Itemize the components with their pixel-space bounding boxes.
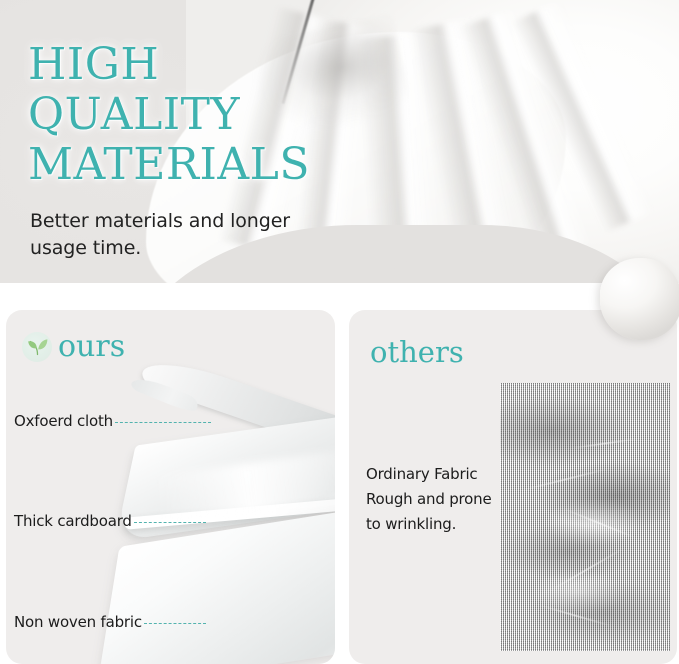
page-title: HIGH QUALITY MATERIALS: [28, 40, 328, 190]
panel-others-header: others: [370, 335, 464, 369]
others-description-line-3: to wrinkling.: [366, 515, 456, 533]
subtitle-line-2: usage time.: [30, 237, 141, 259]
section-divider: [0, 283, 679, 310]
others-description-line-1: Ordinary Fabric: [366, 465, 477, 483]
hero-section: HIGH QUALITY MATERIALS Better materials …: [0, 0, 679, 283]
leader-line: [134, 522, 206, 523]
callout-thick-cardboard: Thick cardboard: [14, 512, 206, 530]
callout-label: Non woven fabric: [14, 613, 142, 631]
others-description-line-2: Rough and prone: [366, 490, 492, 508]
hero-subtitle: Better materials and longer usage time.: [30, 208, 328, 262]
panel-ours-header: ours: [22, 330, 125, 364]
panel-ours-title: ours: [58, 330, 125, 364]
subtitle-line-1: Better materials and longer: [30, 210, 290, 232]
panel-ours: ours: [6, 310, 335, 664]
hero-copy: HIGH QUALITY MATERIALS Better materials …: [28, 40, 328, 262]
others-description: Ordinary Fabric Rough and prone to wrink…: [366, 462, 492, 537]
callout-label: Thick cardboard: [14, 512, 132, 530]
infographic-page: HIGH QUALITY MATERIALS Better materials …: [0, 0, 679, 664]
title-line-2: QUALITY: [28, 89, 240, 140]
leader-line: [144, 623, 206, 624]
panel-others-title: others: [370, 335, 464, 369]
leaf-icon: [22, 332, 52, 362]
callout-label: Oxfoerd cloth: [14, 412, 113, 430]
leader-line: [115, 422, 211, 423]
title-line-1: HIGH: [28, 39, 159, 90]
callout-oxford-cloth: Oxfoerd cloth: [14, 412, 211, 430]
callout-non-woven-fabric: Non woven fabric: [14, 613, 206, 631]
rough-fabric-swatch: [500, 383, 670, 651]
title-line-3: MATERIALS: [28, 139, 310, 190]
fabric-overhang-lobe: [600, 258, 679, 340]
